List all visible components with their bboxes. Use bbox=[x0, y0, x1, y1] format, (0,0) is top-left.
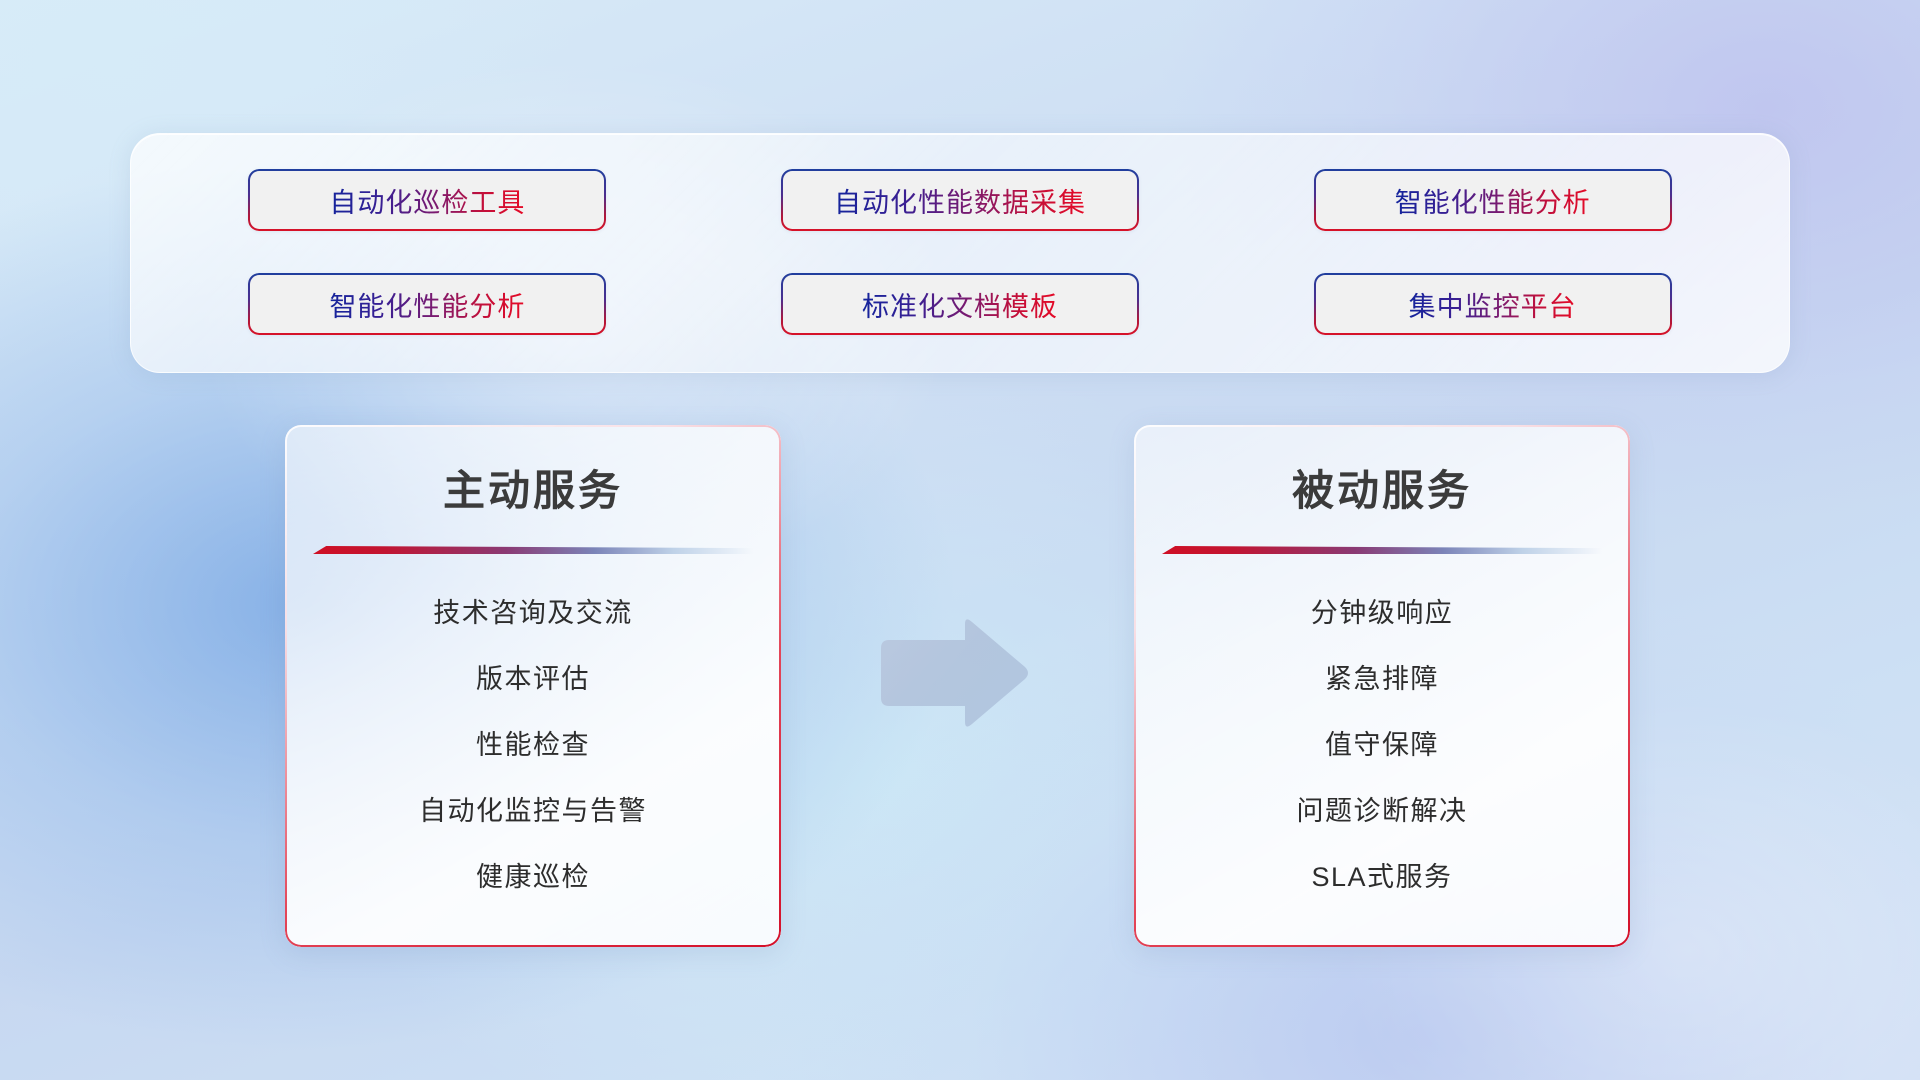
capability-tag-label: 集中监控平台 bbox=[1409, 285, 1577, 324]
service-card-reactive[interactable]: 被动服务 分钟级响应 紧急排障 值守保障 问题诊断解决 SLA式服务 bbox=[1134, 425, 1630, 947]
slide-canvas: 自动化巡检工具 自动化性能数据采集 智能化性能分析 智能化性能分析 标准化文档模… bbox=[0, 0, 1920, 1080]
capability-tag[interactable]: 自动化巡检工具 bbox=[248, 169, 606, 231]
card-title: 主动服务 bbox=[285, 457, 781, 518]
capability-tag[interactable]: 智能化性能分析 bbox=[1314, 169, 1672, 231]
service-item: 技术咨询及交流 bbox=[433, 591, 633, 630]
capability-tag-label: 智能化性能分析 bbox=[329, 285, 525, 324]
service-card-proactive[interactable]: 主动服务 技术咨询及交流 版本评估 性能检查 自动化监控与告警 健康巡检 bbox=[285, 425, 781, 947]
arrow-right-icon bbox=[873, 618, 1031, 728]
capability-tag-label: 自动化性能数据采集 bbox=[834, 181, 1086, 220]
service-item: SLA式服务 bbox=[1311, 855, 1452, 894]
service-item-list: 分钟级响应 紧急排障 值守保障 问题诊断解决 SLA式服务 bbox=[1134, 555, 1630, 947]
capability-tag[interactable]: 标准化文档模板 bbox=[781, 273, 1139, 335]
capability-tag-panel: 自动化巡检工具 自动化性能数据采集 智能化性能分析 智能化性能分析 标准化文档模… bbox=[130, 133, 1790, 373]
capability-tag[interactable]: 自动化性能数据采集 bbox=[781, 169, 1139, 231]
capability-tag[interactable]: 集中监控平台 bbox=[1314, 273, 1672, 335]
service-item-list: 技术咨询及交流 版本评估 性能检查 自动化监控与告警 健康巡检 bbox=[285, 555, 781, 947]
service-item: 值守保障 bbox=[1325, 723, 1439, 762]
title-underline-rule bbox=[1162, 546, 1602, 555]
capability-tag-label: 自动化巡检工具 bbox=[329, 181, 525, 220]
service-item: 问题诊断解决 bbox=[1297, 789, 1468, 828]
service-item: 自动化监控与告警 bbox=[419, 789, 647, 828]
service-item: 分钟级响应 bbox=[1311, 591, 1454, 630]
capability-tag-label: 智能化性能分析 bbox=[1395, 181, 1591, 220]
title-underline-rule bbox=[313, 546, 753, 555]
service-item: 性能检查 bbox=[476, 723, 590, 762]
service-item: 版本评估 bbox=[476, 657, 590, 696]
capability-tag-label: 标准化文档模板 bbox=[862, 285, 1058, 324]
service-item: 健康巡检 bbox=[476, 855, 590, 894]
service-item: 紧急排障 bbox=[1325, 657, 1439, 696]
card-title: 被动服务 bbox=[1134, 457, 1630, 518]
capability-tag[interactable]: 智能化性能分析 bbox=[248, 273, 606, 335]
